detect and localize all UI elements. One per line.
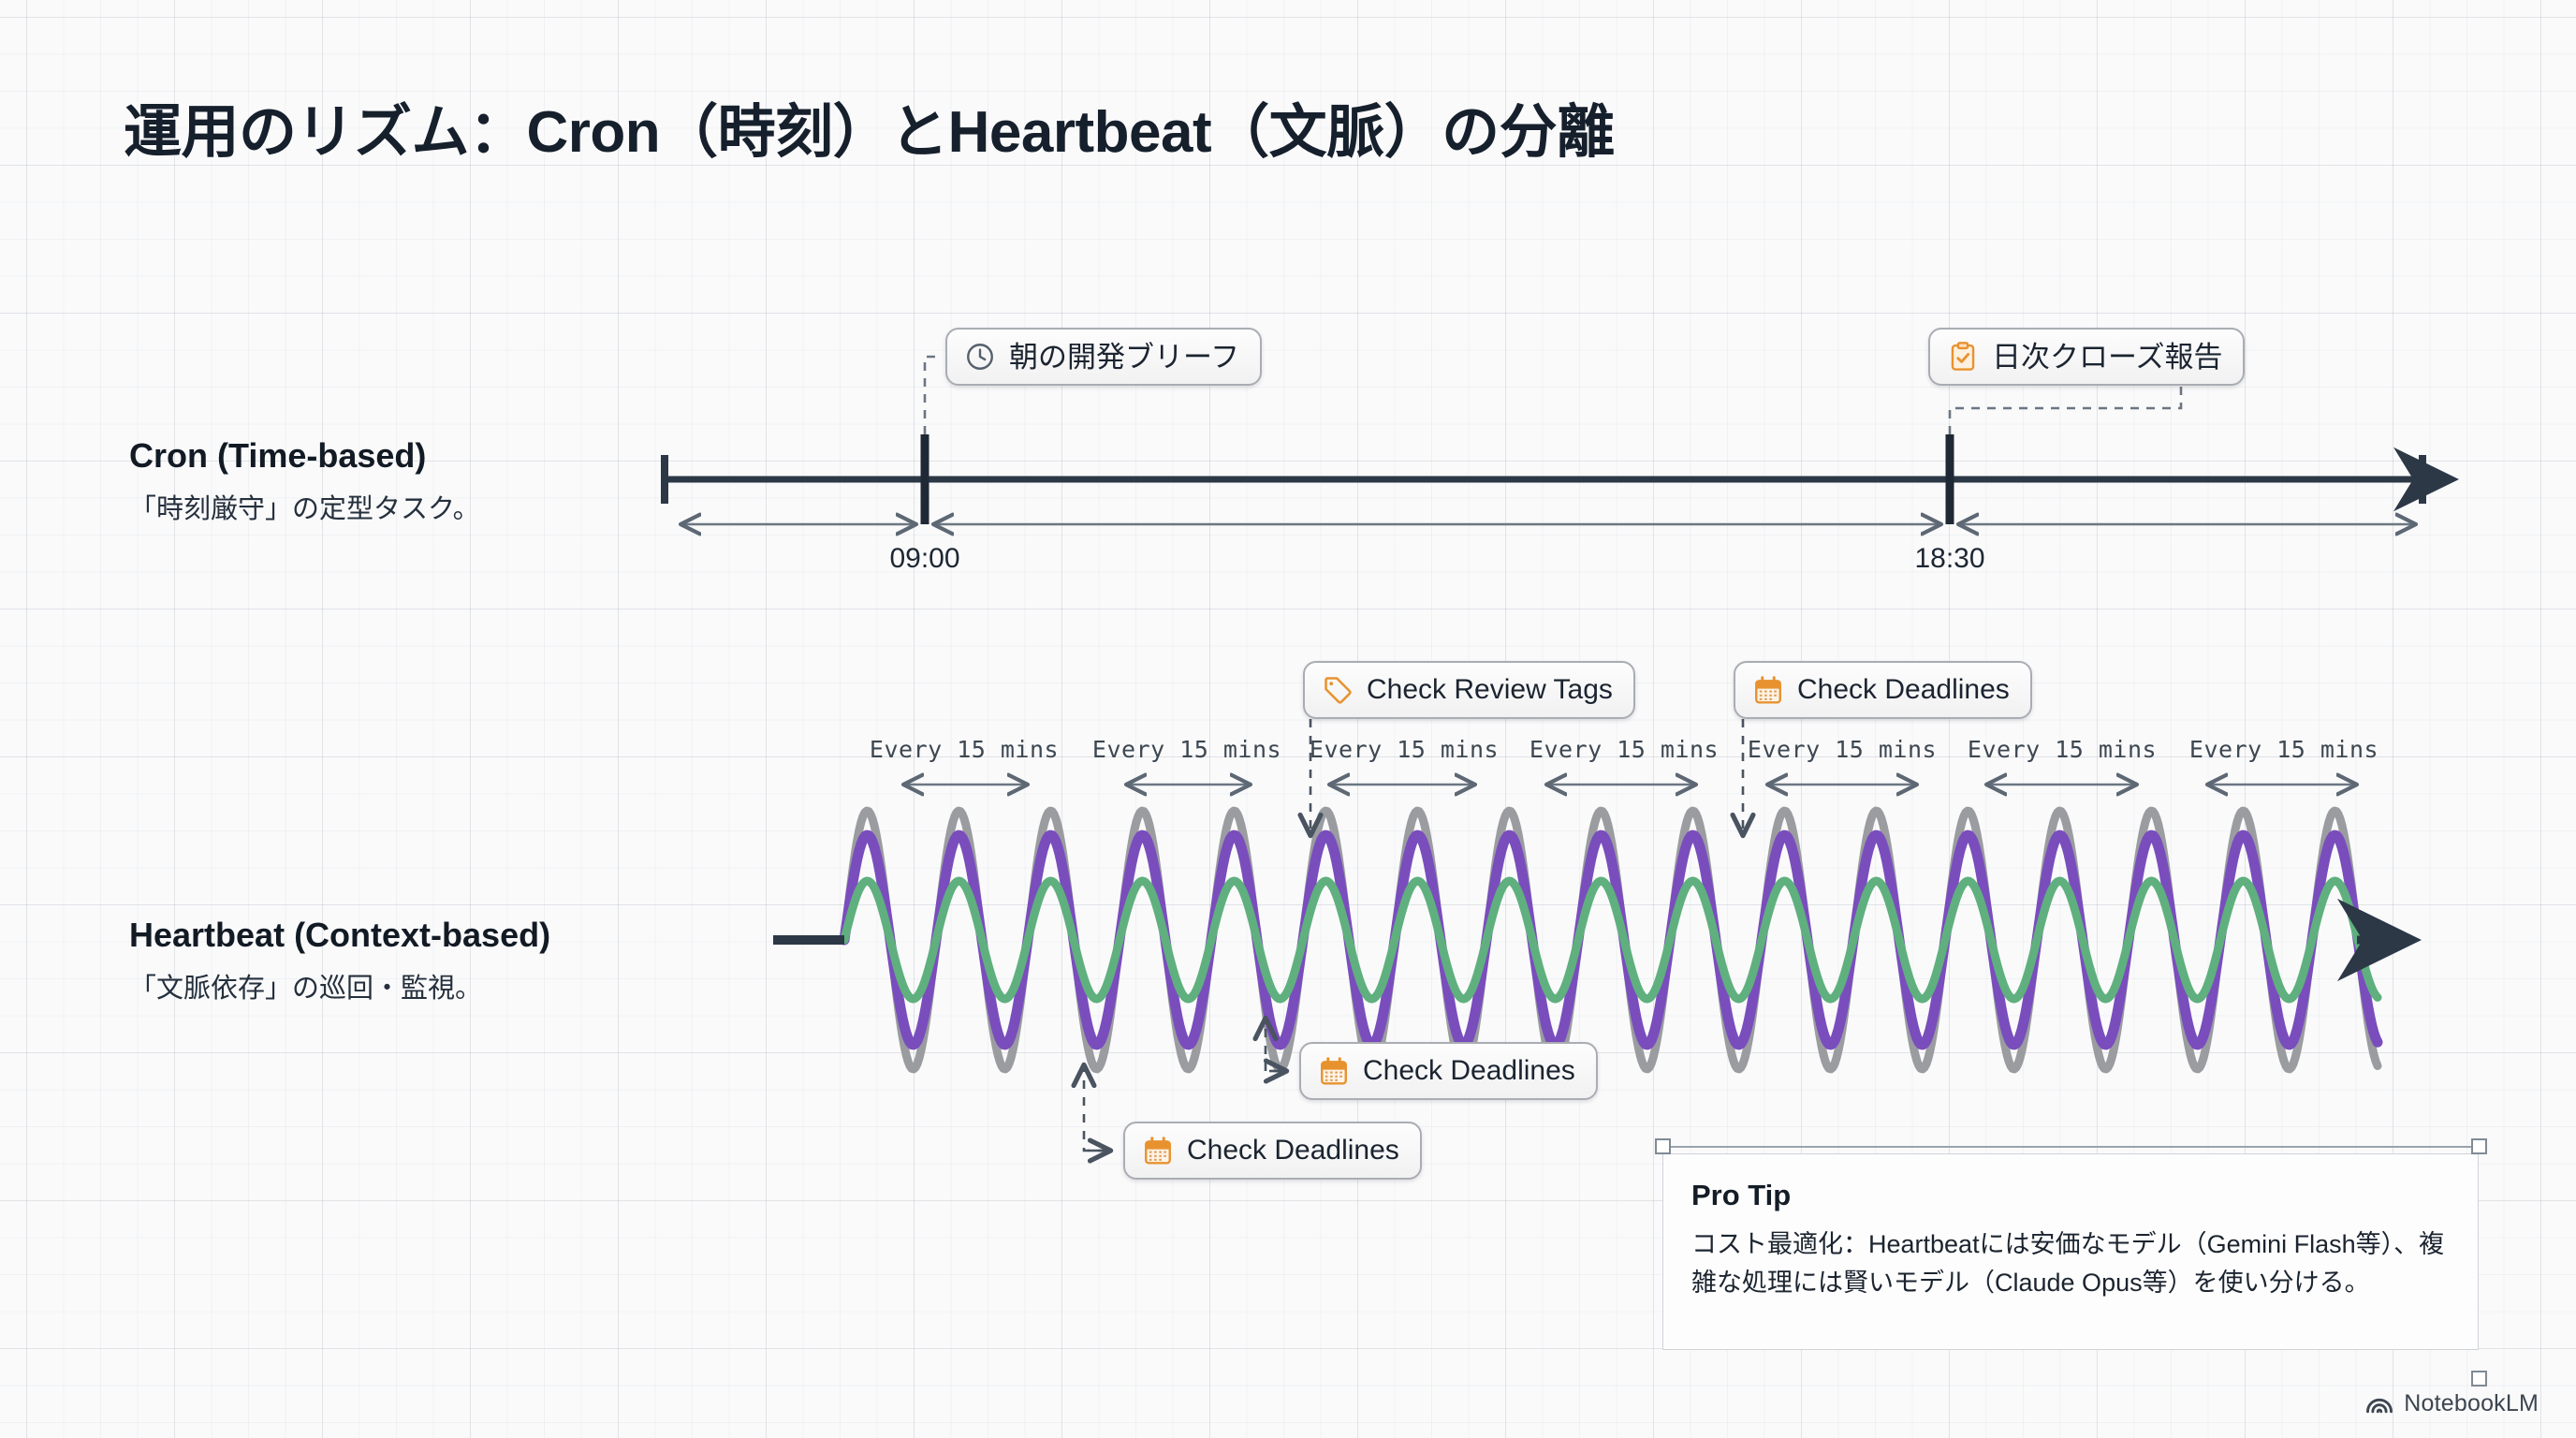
heartbeat-badge-2[interactable]: Check Deadlines xyxy=(1299,1042,1598,1100)
selection-handle-bottom-right[interactable] xyxy=(2471,1371,2487,1387)
interval-label-1: Every 15 mins xyxy=(1092,736,1281,763)
clock-icon xyxy=(964,341,996,373)
tag-icon xyxy=(1322,674,1354,706)
cron-badge-1[interactable]: 日次クローズ報告 xyxy=(1928,328,2245,386)
selection-top-line xyxy=(1662,1146,2479,1148)
cron-badge-label: 日次クローズ報告 xyxy=(1992,343,2222,372)
interval-label-5: Every 15 mins xyxy=(1968,736,2157,763)
heartbeat-badge-label: Check Review Tags xyxy=(1367,676,1613,704)
pro-tip-body: コスト最適化：Heartbeatには安価なモデル（Gemini Flash等）、… xyxy=(1691,1225,2450,1302)
cron-tick-label-1: 18:30 xyxy=(1914,543,1984,575)
heartbeat-badge-1[interactable]: Check Deadlines xyxy=(1734,661,2032,719)
calendar-icon xyxy=(1318,1055,1350,1087)
heartbeat-badge-label: Check Deadlines xyxy=(1797,676,2010,704)
heartbeat-connector-3 xyxy=(1084,1067,1106,1151)
heartbeat-badge-label: Check Deadlines xyxy=(1187,1137,1399,1165)
cron-badge-0[interactable]: 朝の開発ブリーフ xyxy=(945,328,1262,386)
calendar-icon xyxy=(1752,674,1784,706)
cron-tick-label-0: 09:00 xyxy=(889,543,959,575)
interval-label-0: Every 15 mins xyxy=(870,736,1059,763)
heartbeat-badge-3[interactable]: Check Deadlines xyxy=(1123,1122,1422,1180)
interval-label-2: Every 15 mins xyxy=(1310,736,1499,763)
calendar-icon xyxy=(1142,1135,1174,1167)
slide-canvas: 運用のリズム：Cron（時刻）とHeartbeat（文脈）の分離 Cron (T… xyxy=(0,0,2576,1438)
notebooklm-spiral-icon xyxy=(2365,1389,2393,1417)
heartbeat-badge-label: Check Deadlines xyxy=(1363,1057,1575,1085)
watermark-label: NotebookLM xyxy=(2404,1390,2539,1417)
pro-tip-title: Pro Tip xyxy=(1691,1179,2450,1212)
pro-tip-card[interactable]: Pro Tip コスト最適化：Heartbeatには安価なモデル（Gemini … xyxy=(1662,1153,2479,1350)
selection-handle-left[interactable] xyxy=(1655,1138,1671,1154)
heartbeat-badge-0[interactable]: Check Review Tags xyxy=(1303,661,1635,719)
interval-label-3: Every 15 mins xyxy=(1529,736,1719,763)
cron-badge-label: 朝の開発ブリーフ xyxy=(1009,343,1239,372)
clipboard-check-icon xyxy=(1947,341,1979,373)
notebooklm-watermark: NotebookLM xyxy=(2365,1389,2539,1417)
selection-handle-right[interactable] xyxy=(2471,1138,2487,1154)
interval-label-4: Every 15 mins xyxy=(1748,736,1937,763)
interval-label-6: Every 15 mins xyxy=(2189,736,2378,763)
